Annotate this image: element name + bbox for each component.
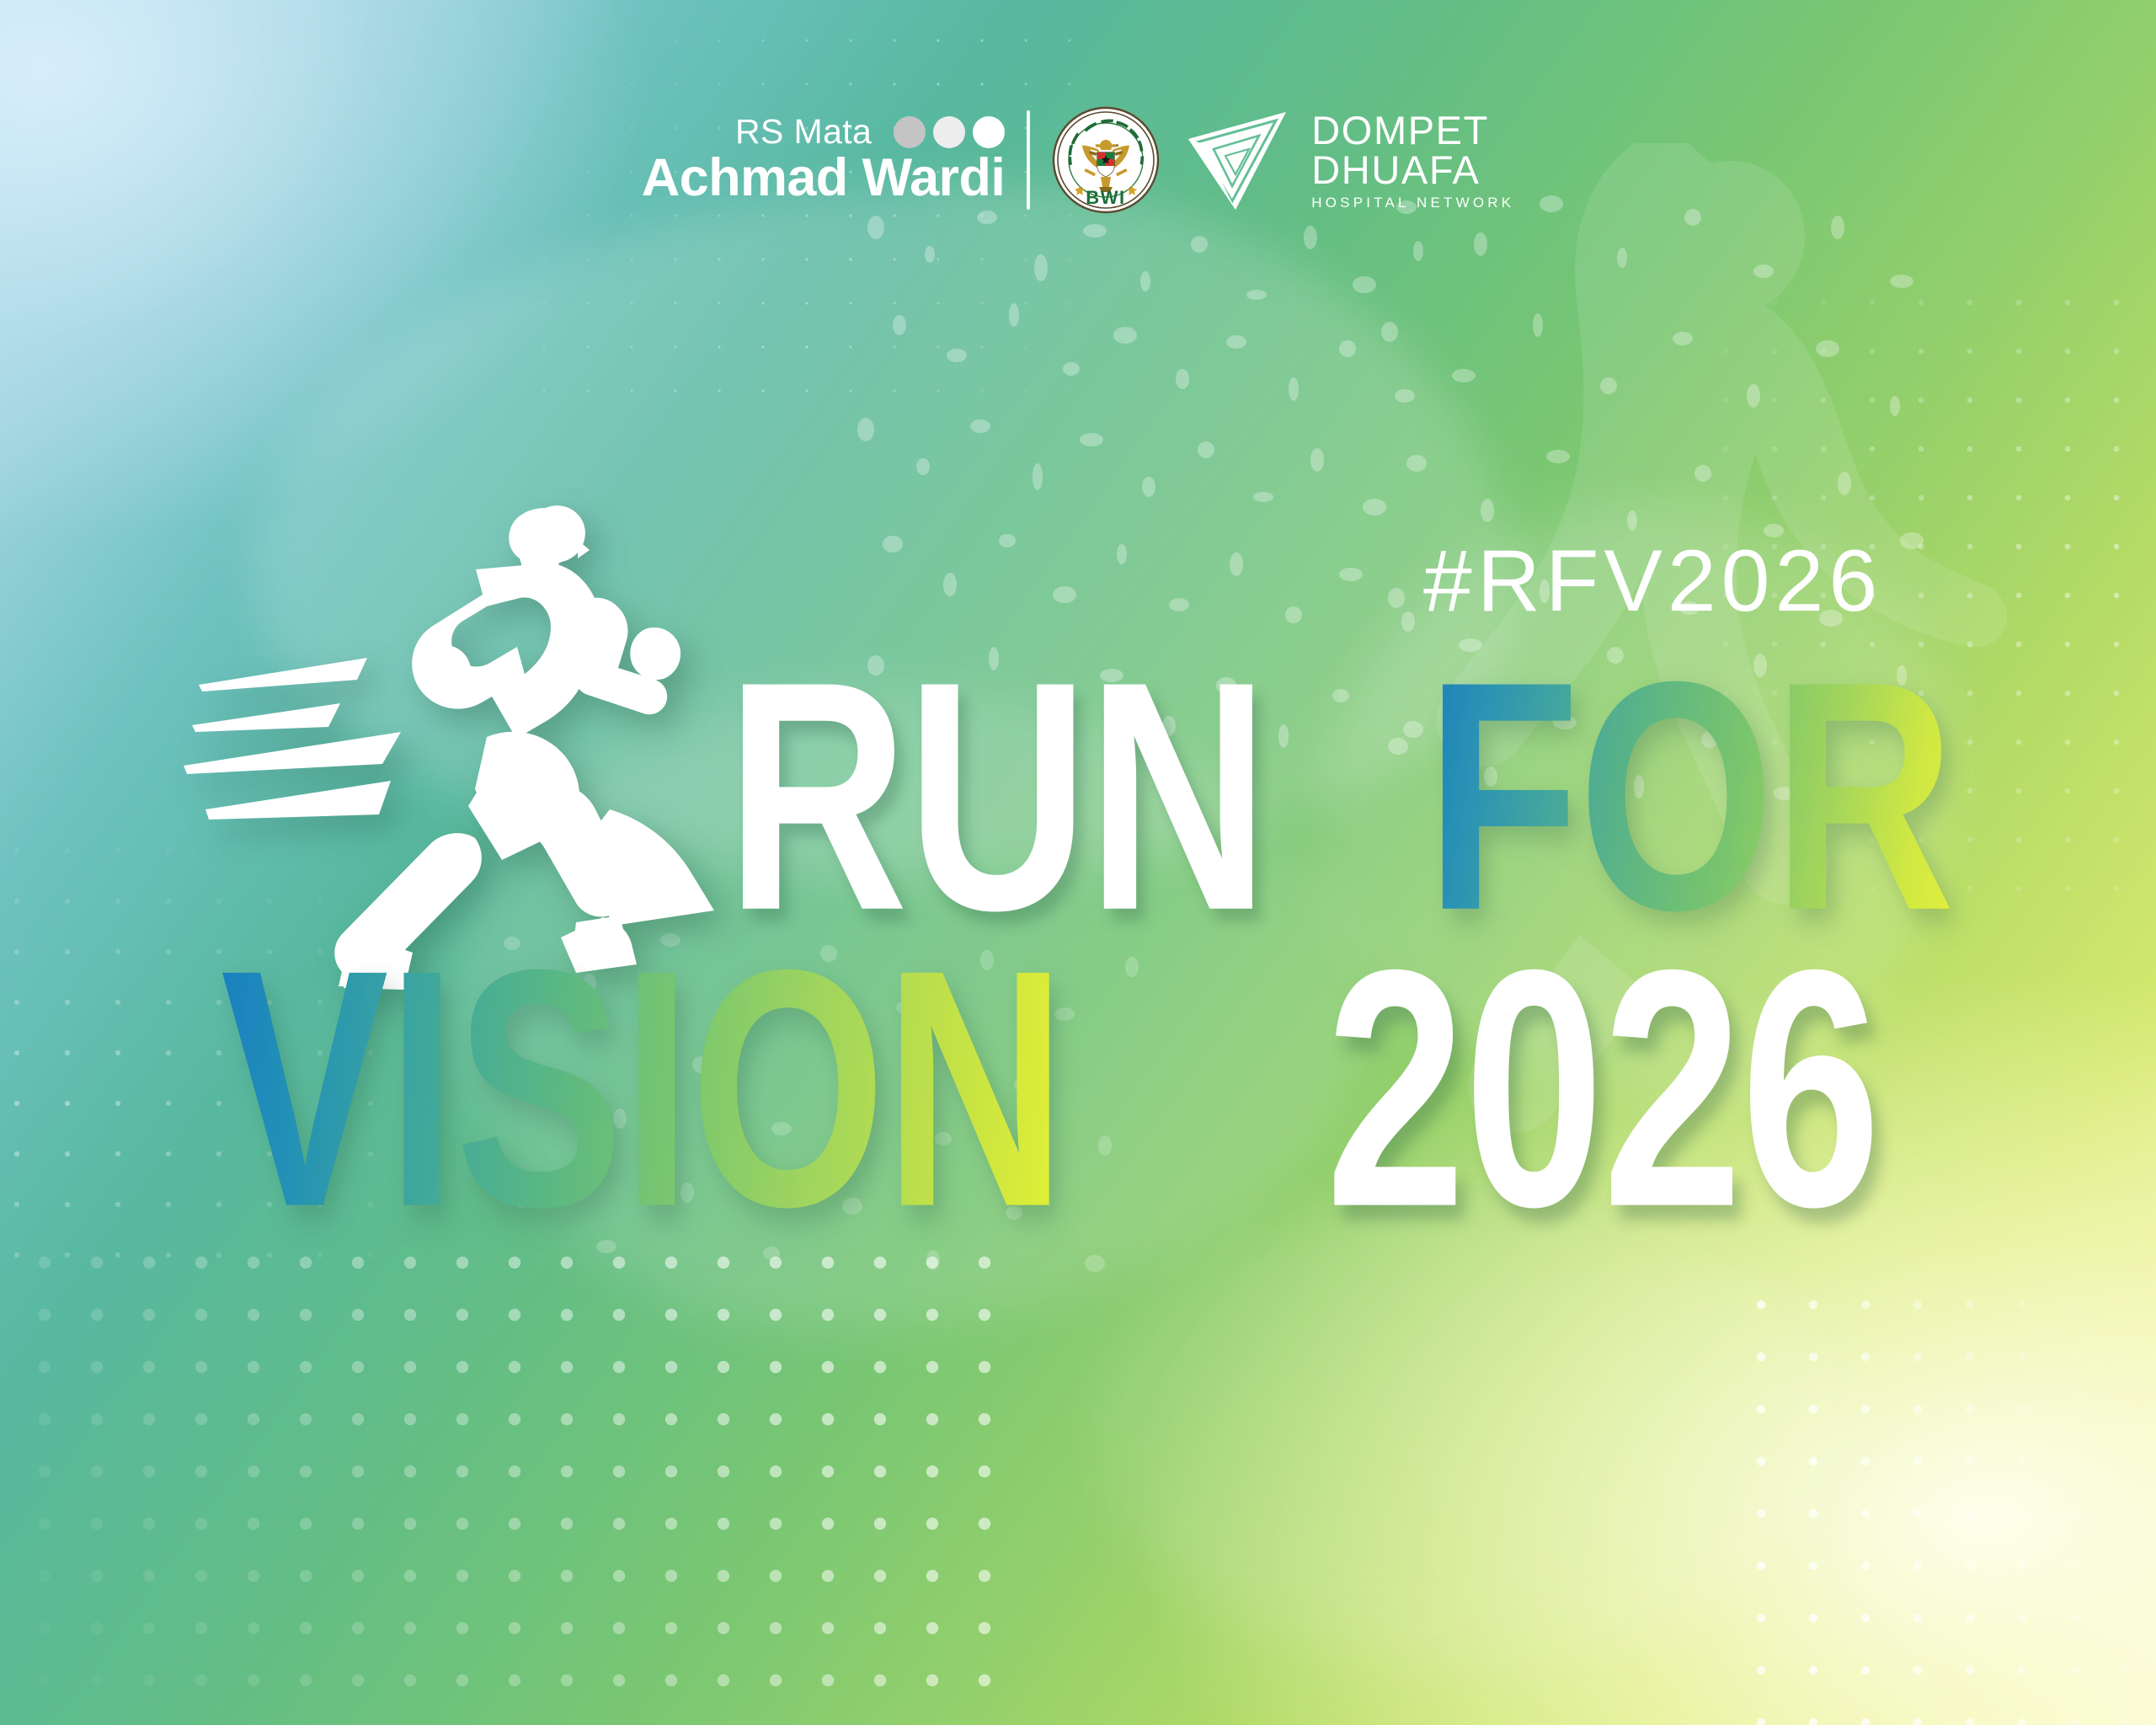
background-blob-d: [1095, 1196, 1853, 1668]
speckle-texture-b: [1339, 177, 1945, 817]
running-man-silhouette-icon: [184, 484, 723, 1007]
dompet-dhuafa-tagline: HOSPITAL NETWORK: [1311, 195, 1514, 210]
poster-canvas: RS Mata Achmad Wardi: [0, 0, 2156, 1725]
rs-mata-hospital-name: Achmad Wardi: [642, 151, 1006, 205]
dompet-dhuafa-triangle-icon: [1182, 107, 1293, 213]
dompet-dhuafa-wordmark: DOMPET DHUAFA HOSPITAL NETWORK: [1311, 110, 1514, 210]
ghost-runner-watermark-icon: [1381, 143, 2021, 1204]
dompet-dhuafa-line1: DOMPET: [1311, 110, 1514, 150]
headline-word-run: RUN: [726, 670, 1267, 925]
headline-word-for: FOR: [1426, 670, 1953, 925]
halftone-dots-bottom-left: [0, 1236, 1019, 1725]
headline-word-year: 2026: [1326, 958, 1879, 1221]
logo-lockup: RS Mata Achmad Wardi: [0, 106, 2156, 214]
halftone-dots-bottom-right: [1735, 1279, 2156, 1725]
logo-divider: [1027, 110, 1030, 210]
rs-mata-dots-icon: [894, 116, 1005, 148]
dompet-dhuafa-logo: DOMPET DHUAFA HOSPITAL NETWORK: [1182, 107, 1514, 213]
logo-dot-2-icon: [933, 116, 965, 148]
logo-dot-3-icon: [973, 116, 1005, 148]
dompet-dhuafa-line2: DHUAFA: [1311, 150, 1514, 190]
speckle-texture-a: [825, 194, 1465, 783]
svg-text:BWI: BWI: [1086, 187, 1126, 208]
rs-mata-top-text: RS Mata: [735, 115, 872, 149]
event-hashtag: #RFV2026: [1423, 537, 1882, 625]
rs-mata-top-row: RS Mata: [735, 115, 1005, 149]
bwi-garuda-emblem-icon: BWI: [1052, 106, 1160, 214]
rs-mata-achmad-wardi-logo: RS Mata Achmad Wardi: [642, 115, 1006, 205]
logo-dot-1-icon: [894, 116, 926, 148]
